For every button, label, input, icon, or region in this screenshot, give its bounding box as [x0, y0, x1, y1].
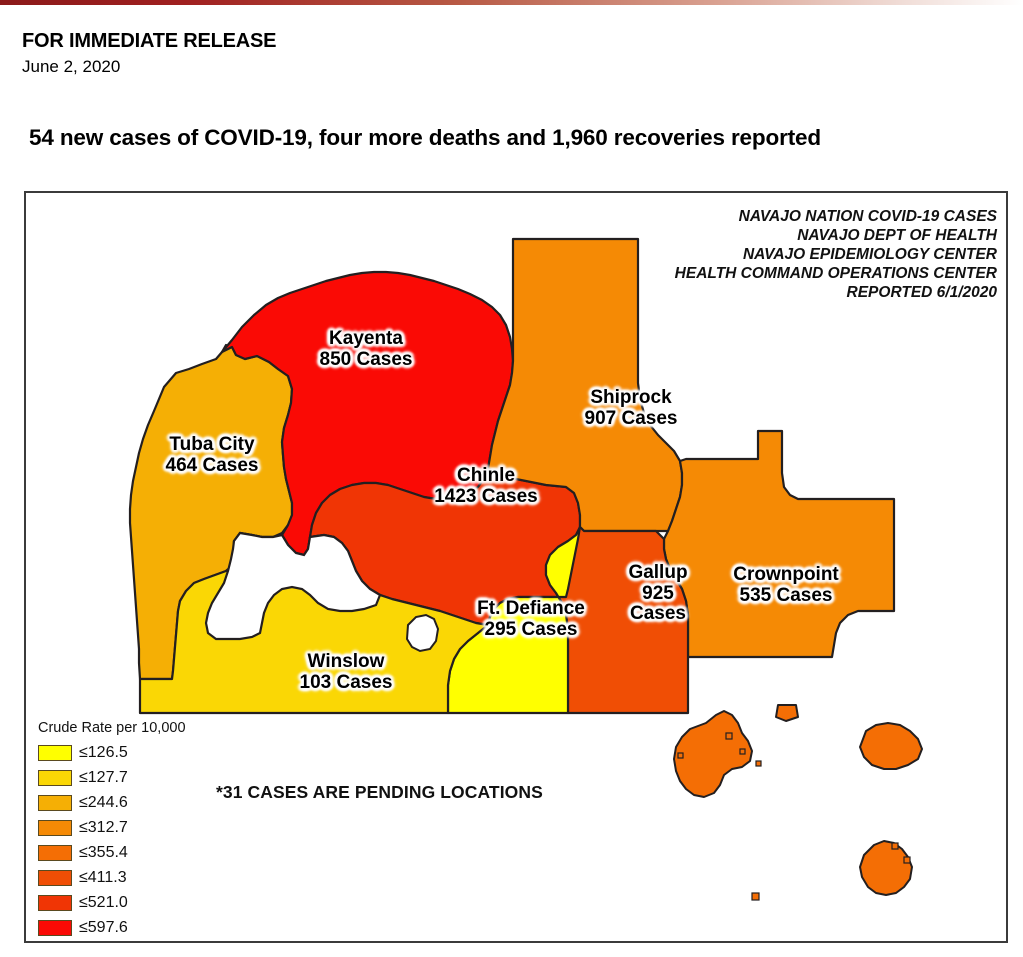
fragment-speck-1	[752, 893, 759, 900]
map-figure: NAVAJO NATION COVID-19 CASES NAVAJO DEPT…	[24, 191, 1008, 943]
legend-item[interactable]: ≤312.7	[38, 815, 186, 840]
detached-chapter-fragments	[674, 705, 922, 900]
map-credit-line-5: REPORTED 6/1/2020	[675, 284, 997, 303]
page-headline: 54 new cases of COVID-19, four more deat…	[29, 125, 821, 151]
release-label: FOR IMMEDIATE RELEASE	[22, 30, 276, 53]
legend-item[interactable]: ≤355.4	[38, 840, 186, 865]
legend-title: Crude Rate per 10,000	[38, 720, 186, 736]
legend-item-label: ≤244.6	[79, 794, 128, 812]
release-date: June 2, 2020	[22, 57, 120, 77]
map-credit-block: NAVAJO NATION COVID-19 CASES NAVAJO DEPT…	[675, 208, 997, 303]
legend-item[interactable]: ≤244.6	[38, 790, 186, 815]
legend-swatch-icon	[38, 745, 72, 761]
legend-swatch-icon	[38, 870, 72, 886]
legend-swatch-icon	[38, 820, 72, 836]
legend-item-label: ≤597.6	[79, 919, 128, 937]
fragment-alamo	[860, 723, 922, 769]
decorative-top-strip	[0, 0, 1023, 5]
map-credit-line-2: NAVAJO DEPT OF HEALTH	[675, 227, 997, 246]
legend-item-label: ≤521.0	[79, 894, 128, 912]
legend-item[interactable]: ≤126.5	[38, 740, 186, 765]
legend-item[interactable]: ≤127.7	[38, 765, 186, 790]
legend-item[interactable]: ≤597.6	[38, 915, 186, 940]
map-credit-line-4: HEALTH COMMAND OPERATIONS CENTER	[675, 265, 997, 284]
fragment-speck-2	[726, 733, 732, 739]
region-crownpoint[interactable]	[664, 431, 894, 657]
legend-item-label: ≤312.7	[79, 819, 128, 837]
fragment-speck-7	[678, 753, 683, 758]
fragment-speck-3	[740, 749, 745, 754]
fragment-tohajiilee	[860, 841, 912, 895]
legend-item[interactable]: ≤521.0	[38, 890, 186, 915]
legend-swatch-icon	[38, 795, 72, 811]
fragment-speck-6	[904, 857, 910, 863]
map-credit-line-1: NAVAJO NATION COVID-19 CASES	[675, 208, 997, 227]
legend-item-label: ≤127.7	[79, 769, 128, 787]
fragment-speck-5	[892, 843, 898, 849]
map-credit-line-3: NAVAJO EPIDEMIOLOGY CENTER	[675, 246, 997, 265]
pending-locations-note: *31 CASES ARE PENDING LOCATIONS	[216, 782, 543, 803]
fragment-speck-4	[756, 761, 761, 766]
legend-swatch-icon	[38, 920, 72, 936]
map-legend: Crude Rate per 10,000 ≤126.5 ≤127.7 ≤244…	[38, 720, 186, 940]
legend-item-label: ≤411.3	[79, 869, 127, 887]
legend-swatch-icon	[38, 895, 72, 911]
map-hole-small	[407, 615, 438, 651]
legend-swatch-icon	[38, 845, 72, 861]
legend-item-label: ≤126.5	[79, 744, 128, 762]
legend-item[interactable]: ≤411.3	[38, 865, 186, 890]
legend-item-label: ≤355.4	[79, 844, 128, 862]
fragment-small-a	[776, 705, 798, 721]
legend-swatch-icon	[38, 770, 72, 786]
